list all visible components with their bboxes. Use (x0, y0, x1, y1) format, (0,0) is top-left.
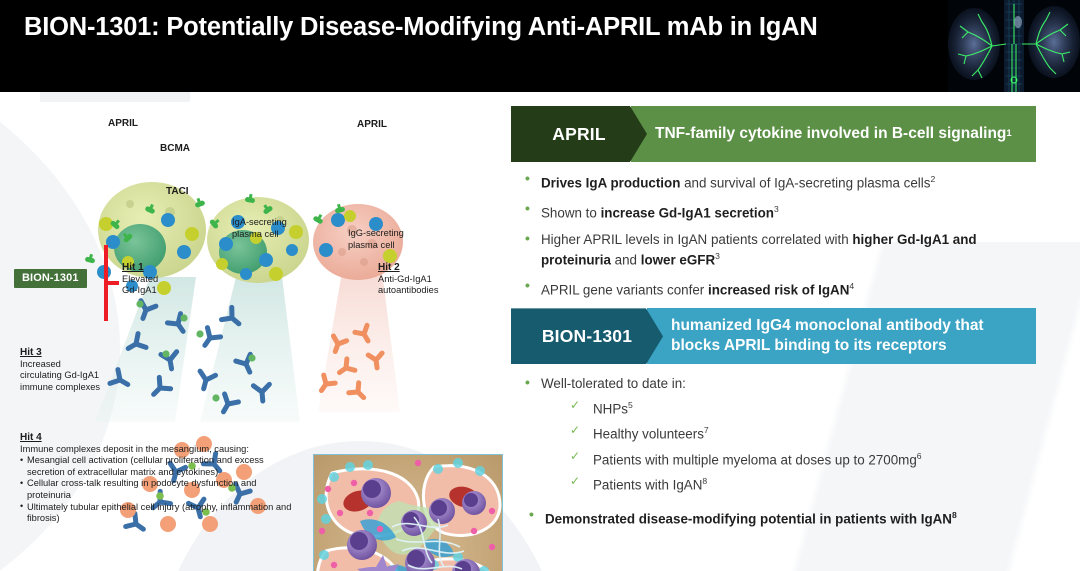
april-bullet: Drives IgA production and survival of Ig… (521, 171, 1031, 192)
check-item: Healthy volunteers7 (567, 422, 1080, 442)
diagram-label-april-right: APRIL (357, 119, 387, 131)
hit-4-list: Mesangial cell activation (cellular prol… (20, 455, 302, 525)
bion-intro-bullet: Well-tolerated to date in: (521, 375, 1031, 393)
hit-4-item: Cellular cross-talk resulting in podocyt… (20, 478, 302, 501)
diagram-label-iga-plasma-cell: IgA-secretingplasma cell (232, 217, 332, 240)
slide-body: APRIL APRIL BCMA TACI IgA-secretingplasm… (0, 92, 1080, 571)
content-pane: APRIL TNF-family cytokine involved in B-… (505, 92, 1080, 571)
hit-4-heading: Hit 4 (20, 432, 302, 444)
pathogenesis-diagram: APRIL APRIL BCMA TACI IgA-secretingplasm… (0, 92, 505, 571)
bion-headline: humanized IgG4 monoclonal antibody that … (647, 308, 1036, 364)
hit-2-block: Hit 2 Anti-Gd-IgA1autoantibodies (378, 262, 488, 297)
april-bullet-list: Drives IgA production and survival of Ig… (505, 171, 1080, 299)
hit-1-block: Hit 1 ElevatedGd-IgA1 (122, 262, 212, 297)
bracket-arm (104, 281, 119, 285)
hit-4-intro: Immune complexes deposit in the mesangiu… (20, 444, 249, 454)
april-chevron-label: APRIL (511, 106, 647, 162)
hit-4-item: Mesangial cell activation (cellular prol… (20, 455, 302, 478)
hit-2-heading: Hit 2 (378, 262, 488, 274)
kidney-xray-icon (948, 0, 1080, 92)
diagram-label-igg-plasma-cell: IgG-secretingplasma cell (348, 228, 448, 251)
page-title: BION-1301: Potentially Disease-Modifying… (24, 12, 904, 43)
check-item: NHPs5 (567, 397, 1080, 417)
hit-4-item: Ultimately tubular epithelial cell injur… (20, 502, 302, 525)
bion-1301-tag: BION-1301 (14, 269, 87, 288)
bion-banner: BION-1301 humanized IgG4 monoclonal anti… (511, 308, 1036, 364)
diagram-label-taci: TACI (166, 186, 189, 198)
april-bullet: Higher APRIL levels in IgAN patients cor… (521, 231, 1031, 269)
check-item: Patients with multiple myeloma at doses … (567, 448, 1080, 468)
bion-bullet-list: Well-tolerated to date in: (505, 375, 1080, 393)
bion-final-bullet: Demonstrated disease-modifying potential… (525, 507, 1080, 528)
hit-3-heading: Hit 3 (20, 347, 140, 359)
diagram-label-bcma: BCMA (160, 143, 190, 155)
hit-4-block: Hit 4 Immune complexes deposit in the me… (20, 432, 302, 525)
hit-1-heading: Hit 1 (122, 262, 212, 274)
slide-header: BION-1301: Potentially Disease-Modifying… (0, 0, 1080, 92)
april-banner: APRIL TNF-family cytokine involved in B-… (511, 106, 1036, 162)
mesangium-micrograph (313, 454, 503, 571)
april-bullet: Shown to increase Gd-IgA1 secretion3 (521, 201, 1031, 222)
april-headline: TNF-family cytokine involved in B-cell s… (631, 106, 1036, 162)
april-bullet: APRIL gene variants confer increased ris… (521, 278, 1031, 299)
bion-check-list: NHPs5 Healthy volunteers7 Patients with … (505, 397, 1080, 494)
diagram-label-april-left: APRIL (108, 118, 138, 130)
bion-chevron-label: BION-1301 (511, 308, 663, 364)
hit-3-block: Hit 3 Increasedcirculating Gd-IgA1immune… (20, 347, 140, 393)
check-item: Patients with IgAN8 (567, 473, 1080, 493)
